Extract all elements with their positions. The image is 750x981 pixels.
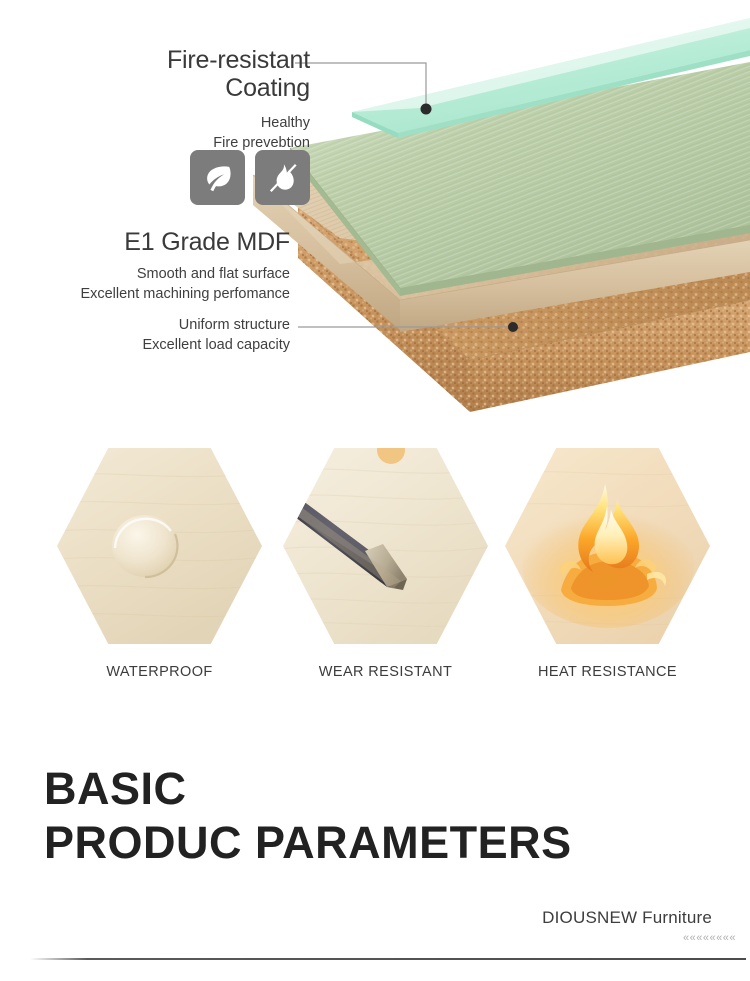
- water-droplet-icon: [57, 448, 262, 644]
- callout-subtitle2-e1-grade-mdf: Uniform structure Excellent load capacit…: [20, 316, 290, 355]
- brand-name: DIOUSNEW Furniture: [0, 908, 712, 928]
- callout-title-e1-grade-mdf: E1 Grade MDF: [20, 228, 290, 256]
- hexagon-clip-waterproof: [57, 448, 262, 644]
- no-fire-badge: [255, 150, 310, 205]
- callout-e1-grade-mdf: E1 Grade MDF Smooth and flat surface Exc…: [20, 228, 290, 355]
- feature-wear-resistant: WEAR RESISTANT: [283, 448, 488, 680]
- feature-badge-group: [190, 150, 310, 205]
- callout-subtitle-e1-grade-mdf: Smooth and flat surface Excellent machin…: [20, 265, 290, 304]
- leader-line-mdf: [298, 316, 523, 340]
- flame-icon: [505, 448, 710, 644]
- feature-waterproof: WATERPROOF: [57, 448, 262, 680]
- chisel-blade-icon: [283, 448, 488, 644]
- feature-label-heat-resistance: HEAT RESISTANCE: [505, 664, 710, 680]
- no-fire-icon: [266, 161, 300, 195]
- feature-label-wear-resistant: WEAR RESISTANT: [283, 664, 488, 680]
- callout-title-fire-resistant: Fire-resistant Coating: [30, 46, 310, 102]
- hexagon-clip-wear-resistant: [283, 448, 488, 644]
- callout-subtitle-fire-resistant: Healthy Fire prevebtion: [30, 114, 310, 153]
- hexagon-heat-resistance: [505, 448, 710, 644]
- callout-fire-resistant-coating: Fire-resistant Coating Healthy Fire prev…: [30, 46, 310, 153]
- leader-line-coating: [295, 52, 445, 122]
- leaf-badge: [190, 150, 245, 205]
- footer-divider: [30, 958, 746, 960]
- page-title: BASIC PRODUC PARAMETERS: [44, 762, 572, 870]
- leaf-icon: [201, 161, 235, 195]
- hexagon-waterproof: [57, 448, 262, 644]
- feature-heat-resistance: HEAT RESISTANCE: [505, 448, 710, 680]
- hexagon-clip-heat-resistance: [505, 448, 710, 644]
- chevron-decoration-icon: ««««««««: [0, 932, 736, 944]
- feature-label-waterproof: WATERPROOF: [57, 664, 262, 680]
- hexagon-wear-resistant: [283, 448, 488, 644]
